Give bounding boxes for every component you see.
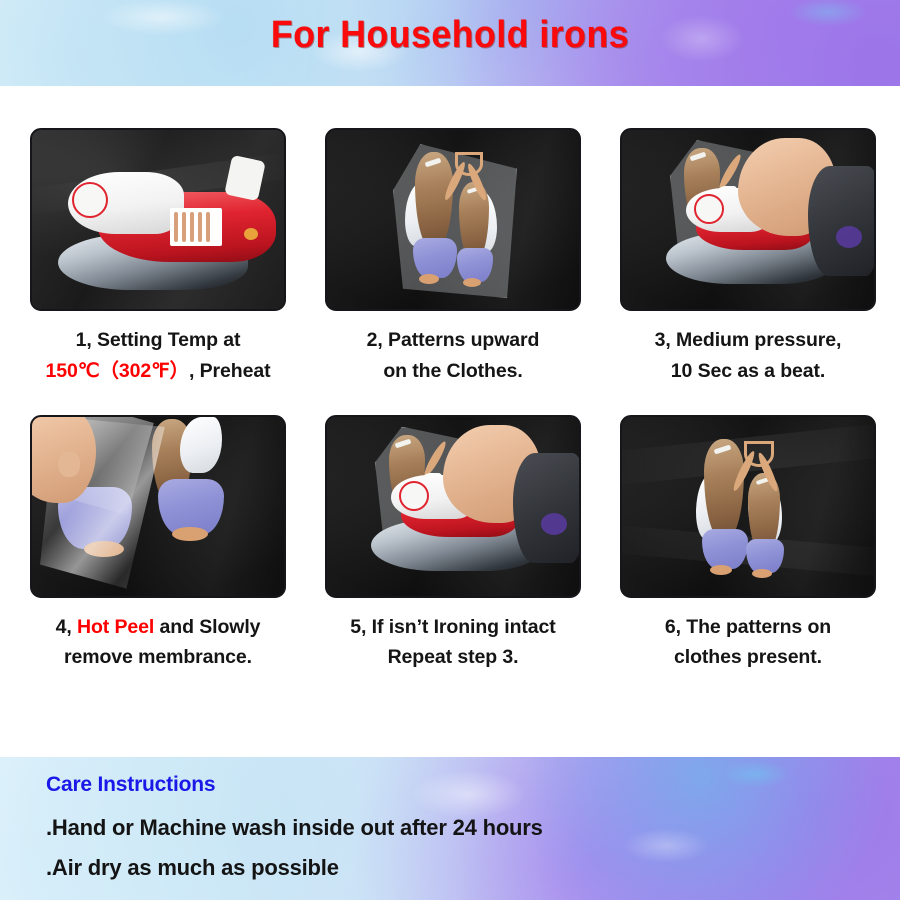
step-3-caption-line-1: 3, Medium pressure, bbox=[620, 325, 876, 356]
temperature-value: 150℃（302℉） bbox=[45, 360, 189, 382]
step-4-caption-line-1: 4, Hot Peel and Slowly bbox=[30, 612, 286, 643]
step-3-caption-line-2: 10 Sec as a beat. bbox=[620, 356, 876, 387]
figure-right-jeans bbox=[746, 539, 784, 573]
sleeve bbox=[513, 453, 581, 563]
figure-left-jeans bbox=[413, 238, 457, 278]
heart-hands-shape bbox=[744, 441, 774, 467]
step-6-caption-line-1: 6, The patterns on bbox=[620, 612, 876, 643]
figure-right-jeans bbox=[457, 248, 493, 282]
sleeve-pattern bbox=[541, 513, 567, 535]
step-2-caption-line-2: on the Clothes. bbox=[325, 356, 581, 387]
step-1-caption-line-2: 150℃（302℉）, Preheat bbox=[30, 356, 286, 387]
step-2-caption: 2, Patterns upward on the Clothes. bbox=[325, 325, 581, 387]
iron-vent-slot bbox=[190, 212, 194, 242]
step-card-4: 4, Hot Peel and Slowly remove membrance. bbox=[30, 415, 286, 674]
steps-row-2: 4, Hot Peel and Slowly remove membrance. bbox=[30, 415, 872, 674]
iron-vent-slot bbox=[174, 212, 178, 242]
step-6-photo bbox=[620, 415, 876, 598]
iron-vent-slot bbox=[198, 212, 202, 242]
step-5-caption-line-2: Repeat step 3. bbox=[325, 642, 581, 673]
step-4-caption: 4, Hot Peel and Slowly remove membrance. bbox=[30, 612, 286, 674]
care-instruction-dry: .Air dry as much as possible bbox=[46, 855, 339, 881]
heart-hands-shape bbox=[455, 152, 483, 176]
step-3-caption: 3, Medium pressure, 10 Sec as a beat. bbox=[620, 325, 876, 387]
step-3-photo bbox=[620, 128, 876, 311]
iron-temperature-dial bbox=[399, 481, 429, 511]
step-4-caption-line-2: remove membrance. bbox=[30, 642, 286, 673]
sleeve bbox=[808, 166, 876, 276]
care-instructions-title: Care Instructions bbox=[46, 773, 215, 797]
step-card-6: 6, The patterns on clothes present. bbox=[620, 415, 876, 674]
step-1-caption-line-1: 1, Setting Temp at bbox=[30, 325, 286, 356]
step-1-caption: 1, Setting Temp at 150℃（302℉）, Preheat bbox=[30, 325, 286, 387]
iron-vent-slot bbox=[182, 212, 186, 242]
step-6-caption: 6, The patterns on clothes present. bbox=[620, 612, 876, 674]
step-card-3: 3, Medium pressure, 10 Sec as a beat. bbox=[620, 128, 876, 387]
iron-vent-slot bbox=[206, 212, 210, 242]
step-4-photo bbox=[30, 415, 286, 598]
step-5-caption: 5, If isn’t Ironing intact Repeat step 3… bbox=[325, 612, 581, 674]
step-4-number: 4, bbox=[56, 616, 77, 638]
step-5-caption-line-1: 5, If isn’t Ironing intact bbox=[325, 612, 581, 643]
care-instructions-banner: Care Instructions .Hand or Machine wash … bbox=[0, 757, 900, 900]
figure-right-feet bbox=[172, 527, 208, 541]
figure-left-jeans bbox=[702, 529, 748, 569]
step-2-photo bbox=[325, 128, 581, 311]
step-card-5: 5, If isn’t Ironing intact Repeat step 3… bbox=[325, 415, 581, 674]
steps-row-1: 1, Setting Temp at 150℃（302℉）, Preheat bbox=[30, 128, 872, 387]
step-4-line1-suffix: and Slowly bbox=[154, 616, 260, 638]
step-card-1: 1, Setting Temp at 150℃（302℉）, Preheat bbox=[30, 128, 286, 387]
hot-peel-emphasis: Hot Peel bbox=[77, 616, 154, 638]
figure-right-feet bbox=[463, 278, 481, 287]
step-1-photo bbox=[30, 128, 286, 311]
page-title: For Household irons bbox=[27, 14, 873, 57]
figure-left-feet bbox=[419, 274, 439, 284]
iron-indicator-light bbox=[244, 228, 258, 240]
sleeve-pattern bbox=[836, 226, 862, 248]
care-instruction-wash: .Hand or Machine wash inside out after 2… bbox=[46, 815, 543, 841]
iron-temperature-dial bbox=[72, 182, 108, 218]
step-6-caption-line-2: clothes present. bbox=[620, 642, 876, 673]
step-5-photo bbox=[325, 415, 581, 598]
preheat-text: , Preheat bbox=[189, 360, 270, 382]
step-card-2: 2, Patterns upward on the Clothes. bbox=[325, 128, 581, 387]
iron-temperature-dial bbox=[694, 194, 724, 224]
header-banner: For Household irons bbox=[0, 0, 900, 86]
instruction-steps-grid: 1, Setting Temp at 150℃（302℉）, Preheat bbox=[30, 128, 872, 673]
figure-right-feet bbox=[752, 569, 772, 578]
figure-left-feet bbox=[710, 565, 732, 575]
thumb bbox=[58, 451, 80, 477]
step-2-caption-line-1: 2, Patterns upward bbox=[325, 325, 581, 356]
